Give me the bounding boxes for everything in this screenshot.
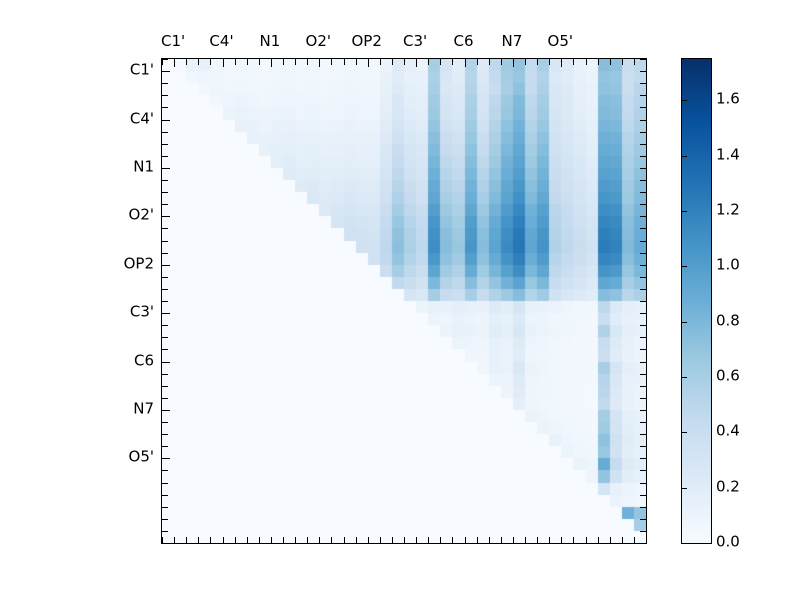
x-tick-mark — [283, 59, 284, 65]
y-tick-mark — [640, 253, 646, 254]
y-tick-mark — [162, 168, 170, 169]
x-tick-label: C6 — [453, 34, 473, 49]
y-tick-mark — [640, 458, 646, 459]
y-tick-mark — [640, 265, 646, 266]
y-tick-mark — [640, 337, 646, 338]
colorbar-tick-label: 1.0 — [716, 258, 740, 273]
y-tick-mark — [162, 313, 170, 314]
x-tick-mark — [610, 59, 611, 65]
y-tick-mark — [162, 531, 168, 532]
x-tick-mark — [198, 537, 199, 543]
colorbar-tick-mark — [682, 543, 687, 544]
x-tick-mark — [513, 59, 514, 67]
x-tick-mark — [646, 537, 647, 543]
y-tick-mark — [162, 83, 168, 84]
x-tick-mark — [586, 59, 587, 65]
x-tick-mark — [174, 537, 175, 543]
x-tick-mark — [223, 59, 224, 67]
x-tick-mark — [416, 537, 417, 543]
x-tick-mark — [174, 59, 175, 67]
y-tick-mark — [640, 192, 646, 193]
y-tick-mark — [640, 95, 646, 96]
y-tick-mark — [640, 410, 646, 411]
x-tick-mark — [356, 59, 357, 65]
colorbar-tick-mark — [682, 211, 687, 212]
x-tick-mark — [452, 537, 453, 543]
y-tick-mark — [162, 156, 168, 157]
y-tick-mark — [640, 228, 646, 229]
y-tick-label: C6 — [104, 353, 154, 368]
x-tick-mark — [186, 59, 187, 65]
y-tick-mark — [162, 543, 168, 544]
colorbar-axes[interactable] — [681, 58, 712, 544]
x-tick-mark — [537, 537, 538, 543]
x-tick-mark — [210, 59, 211, 65]
x-tick-mark — [344, 537, 345, 543]
y-tick-mark — [640, 398, 646, 399]
y-tick-mark — [162, 216, 170, 217]
x-tick-mark — [235, 59, 236, 65]
y-tick-mark — [640, 204, 646, 205]
y-tick-mark — [640, 289, 646, 290]
y-tick-mark — [640, 313, 646, 314]
x-tick-mark — [247, 59, 248, 65]
x-tick-mark — [634, 537, 635, 543]
y-tick-mark — [640, 519, 646, 520]
y-tick-mark — [640, 216, 646, 217]
x-tick-mark — [392, 59, 393, 65]
y-tick-mark — [162, 144, 168, 145]
x-tick-mark — [331, 537, 332, 543]
y-tick-mark — [162, 386, 168, 387]
y-tick-label: C3' — [104, 305, 154, 320]
y-tick-mark — [640, 374, 646, 375]
y-tick-mark — [640, 144, 646, 145]
x-tick-mark — [537, 59, 538, 65]
colorbar-tick-label: 0.6 — [716, 369, 740, 384]
colorbar-tick-mark — [682, 488, 687, 489]
y-tick-mark — [640, 168, 646, 169]
y-tick-mark — [640, 180, 646, 181]
y-tick-mark — [162, 204, 168, 205]
x-tick-mark — [235, 537, 236, 543]
x-tick-mark — [586, 537, 587, 543]
y-tick-mark — [162, 495, 168, 496]
y-tick-mark — [162, 253, 168, 254]
colorbar-tick-label: 1.6 — [716, 92, 740, 107]
y-tick-mark — [162, 228, 168, 229]
colorbar-tick-mark — [682, 266, 687, 267]
x-tick-mark — [283, 537, 284, 543]
y-tick-label: C1' — [104, 63, 154, 78]
x-tick-mark — [513, 537, 514, 543]
y-tick-mark — [162, 349, 168, 350]
x-tick-mark — [525, 59, 526, 65]
y-tick-mark — [162, 337, 168, 338]
x-tick-mark — [501, 59, 502, 65]
x-tick-label: C1' — [161, 34, 185, 49]
y-tick-mark — [162, 132, 168, 133]
x-tick-mark — [549, 59, 550, 65]
x-tick-mark — [404, 537, 405, 543]
colorbar-tick-mark — [682, 432, 687, 433]
x-tick-mark — [428, 537, 429, 543]
x-tick-mark — [319, 537, 320, 543]
x-tick-mark — [319, 59, 320, 67]
x-tick-mark — [561, 537, 562, 543]
x-tick-mark — [573, 537, 574, 543]
x-tick-mark — [440, 537, 441, 543]
x-tick-mark — [477, 59, 478, 65]
x-tick-mark — [368, 537, 369, 543]
x-tick-label: OP2 — [351, 34, 381, 49]
y-tick-label: C4' — [104, 111, 154, 126]
y-tick-mark — [640, 301, 646, 302]
y-tick-mark — [162, 325, 168, 326]
y-tick-label: N1 — [104, 159, 154, 174]
colorbar-tick-mark — [682, 100, 687, 101]
x-tick-mark — [561, 59, 562, 67]
x-tick-mark — [380, 537, 381, 543]
x-tick-mark — [404, 59, 405, 65]
y-tick-mark — [640, 120, 646, 121]
y-tick-mark — [162, 289, 168, 290]
x-tick-mark — [598, 59, 599, 65]
x-tick-mark — [646, 59, 647, 65]
x-tick-mark — [198, 59, 199, 65]
x-tick-mark — [307, 59, 308, 65]
y-tick-mark — [162, 180, 168, 181]
x-tick-mark — [549, 537, 550, 543]
y-tick-mark — [162, 470, 168, 471]
y-tick-mark — [162, 277, 168, 278]
y-tick-mark — [640, 470, 646, 471]
y-tick-mark — [162, 120, 170, 121]
x-tick-mark — [271, 59, 272, 67]
x-tick-label: O5' — [548, 34, 573, 49]
y-tick-mark — [162, 71, 170, 72]
x-tick-mark — [465, 537, 466, 543]
x-tick-mark — [259, 59, 260, 65]
x-tick-mark — [525, 537, 526, 543]
y-tick-mark — [162, 410, 170, 411]
y-tick-mark — [640, 422, 646, 423]
colorbar-gradient — [682, 59, 711, 543]
x-tick-mark — [416, 59, 417, 67]
x-tick-mark — [259, 537, 260, 543]
x-tick-mark — [307, 537, 308, 543]
y-tick-label: N7 — [104, 401, 154, 416]
figure-canvas: C1'C4'N1O2'OP2C3'C6N7O5' C1'C4'N1O2'OP2C… — [0, 0, 800, 600]
x-tick-mark — [271, 537, 272, 543]
x-tick-label: C3' — [403, 34, 427, 49]
x-tick-mark — [380, 59, 381, 65]
y-tick-mark — [640, 362, 646, 363]
colorbar-tick-mark — [682, 377, 687, 378]
x-tick-mark — [344, 59, 345, 65]
colorbar-tick-label: 0.4 — [716, 424, 740, 439]
y-tick-mark — [162, 519, 168, 520]
colorbar-tick-label: 1.2 — [716, 203, 740, 218]
x-tick-mark — [598, 537, 599, 543]
x-tick-mark — [622, 59, 623, 65]
x-tick-mark — [465, 59, 466, 67]
y-tick-mark — [640, 434, 646, 435]
heatmap-image[interactable] — [162, 59, 646, 543]
x-tick-mark — [186, 537, 187, 543]
y-tick-mark — [640, 83, 646, 84]
y-tick-mark — [162, 458, 170, 459]
x-tick-mark — [489, 59, 490, 65]
x-tick-mark — [295, 59, 296, 65]
y-tick-mark — [162, 483, 168, 484]
y-tick-mark — [640, 156, 646, 157]
x-tick-mark — [610, 537, 611, 543]
y-tick-mark — [640, 277, 646, 278]
colorbar-tick-label: 1.4 — [716, 147, 740, 162]
y-tick-mark — [162, 374, 168, 375]
y-tick-mark — [162, 301, 168, 302]
x-tick-mark — [501, 537, 502, 543]
colorbar-tick-label: 0.2 — [716, 479, 740, 494]
y-tick-mark — [640, 71, 646, 72]
y-tick-label: OP2 — [104, 256, 154, 271]
x-tick-label: N1 — [260, 34, 281, 49]
y-tick-mark — [162, 422, 168, 423]
y-tick-mark — [640, 483, 646, 484]
x-tick-mark — [392, 537, 393, 543]
y-tick-mark — [162, 241, 168, 242]
y-tick-mark — [162, 398, 168, 399]
x-tick-mark — [247, 537, 248, 543]
x-tick-mark — [331, 59, 332, 65]
colorbar-tick-label: 0.0 — [716, 535, 740, 550]
y-tick-mark — [162, 434, 168, 435]
y-tick-mark — [640, 107, 646, 108]
colorbar-tick-label: 0.8 — [716, 313, 740, 328]
x-tick-mark — [489, 537, 490, 543]
x-tick-mark — [223, 537, 224, 543]
x-tick-label: O2' — [306, 34, 331, 49]
x-tick-label: N7 — [502, 34, 523, 49]
y-tick-mark — [162, 446, 168, 447]
x-tick-mark — [452, 59, 453, 65]
y-tick-mark — [640, 132, 646, 133]
y-tick-mark — [640, 386, 646, 387]
y-tick-label: O2' — [104, 208, 154, 223]
y-tick-mark — [162, 95, 168, 96]
y-tick-mark — [640, 507, 646, 508]
x-tick-mark — [428, 59, 429, 65]
y-tick-mark — [162, 107, 168, 108]
y-tick-mark — [162, 192, 168, 193]
x-tick-mark — [210, 537, 211, 543]
x-tick-mark — [573, 59, 574, 65]
y-tick-mark — [162, 507, 168, 508]
y-tick-mark — [640, 531, 646, 532]
heatmap-axes[interactable] — [161, 58, 647, 544]
x-tick-label: C4' — [209, 34, 233, 49]
x-tick-mark — [622, 537, 623, 543]
colorbar-tick-mark — [682, 322, 687, 323]
x-tick-mark — [440, 59, 441, 65]
y-tick-mark — [162, 265, 170, 266]
y-tick-mark — [162, 362, 170, 363]
y-tick-mark — [162, 59, 168, 60]
colorbar-tick-mark — [682, 156, 687, 157]
y-tick-label: O5' — [104, 450, 154, 465]
x-tick-mark — [477, 537, 478, 543]
y-tick-mark — [640, 59, 646, 60]
x-tick-mark — [356, 537, 357, 543]
y-tick-mark — [640, 349, 646, 350]
x-tick-mark — [295, 537, 296, 543]
y-tick-mark — [640, 446, 646, 447]
y-tick-mark — [640, 241, 646, 242]
y-tick-mark — [640, 325, 646, 326]
x-tick-mark — [368, 59, 369, 67]
y-tick-mark — [640, 495, 646, 496]
y-tick-mark — [640, 543, 646, 544]
x-tick-mark — [634, 59, 635, 65]
